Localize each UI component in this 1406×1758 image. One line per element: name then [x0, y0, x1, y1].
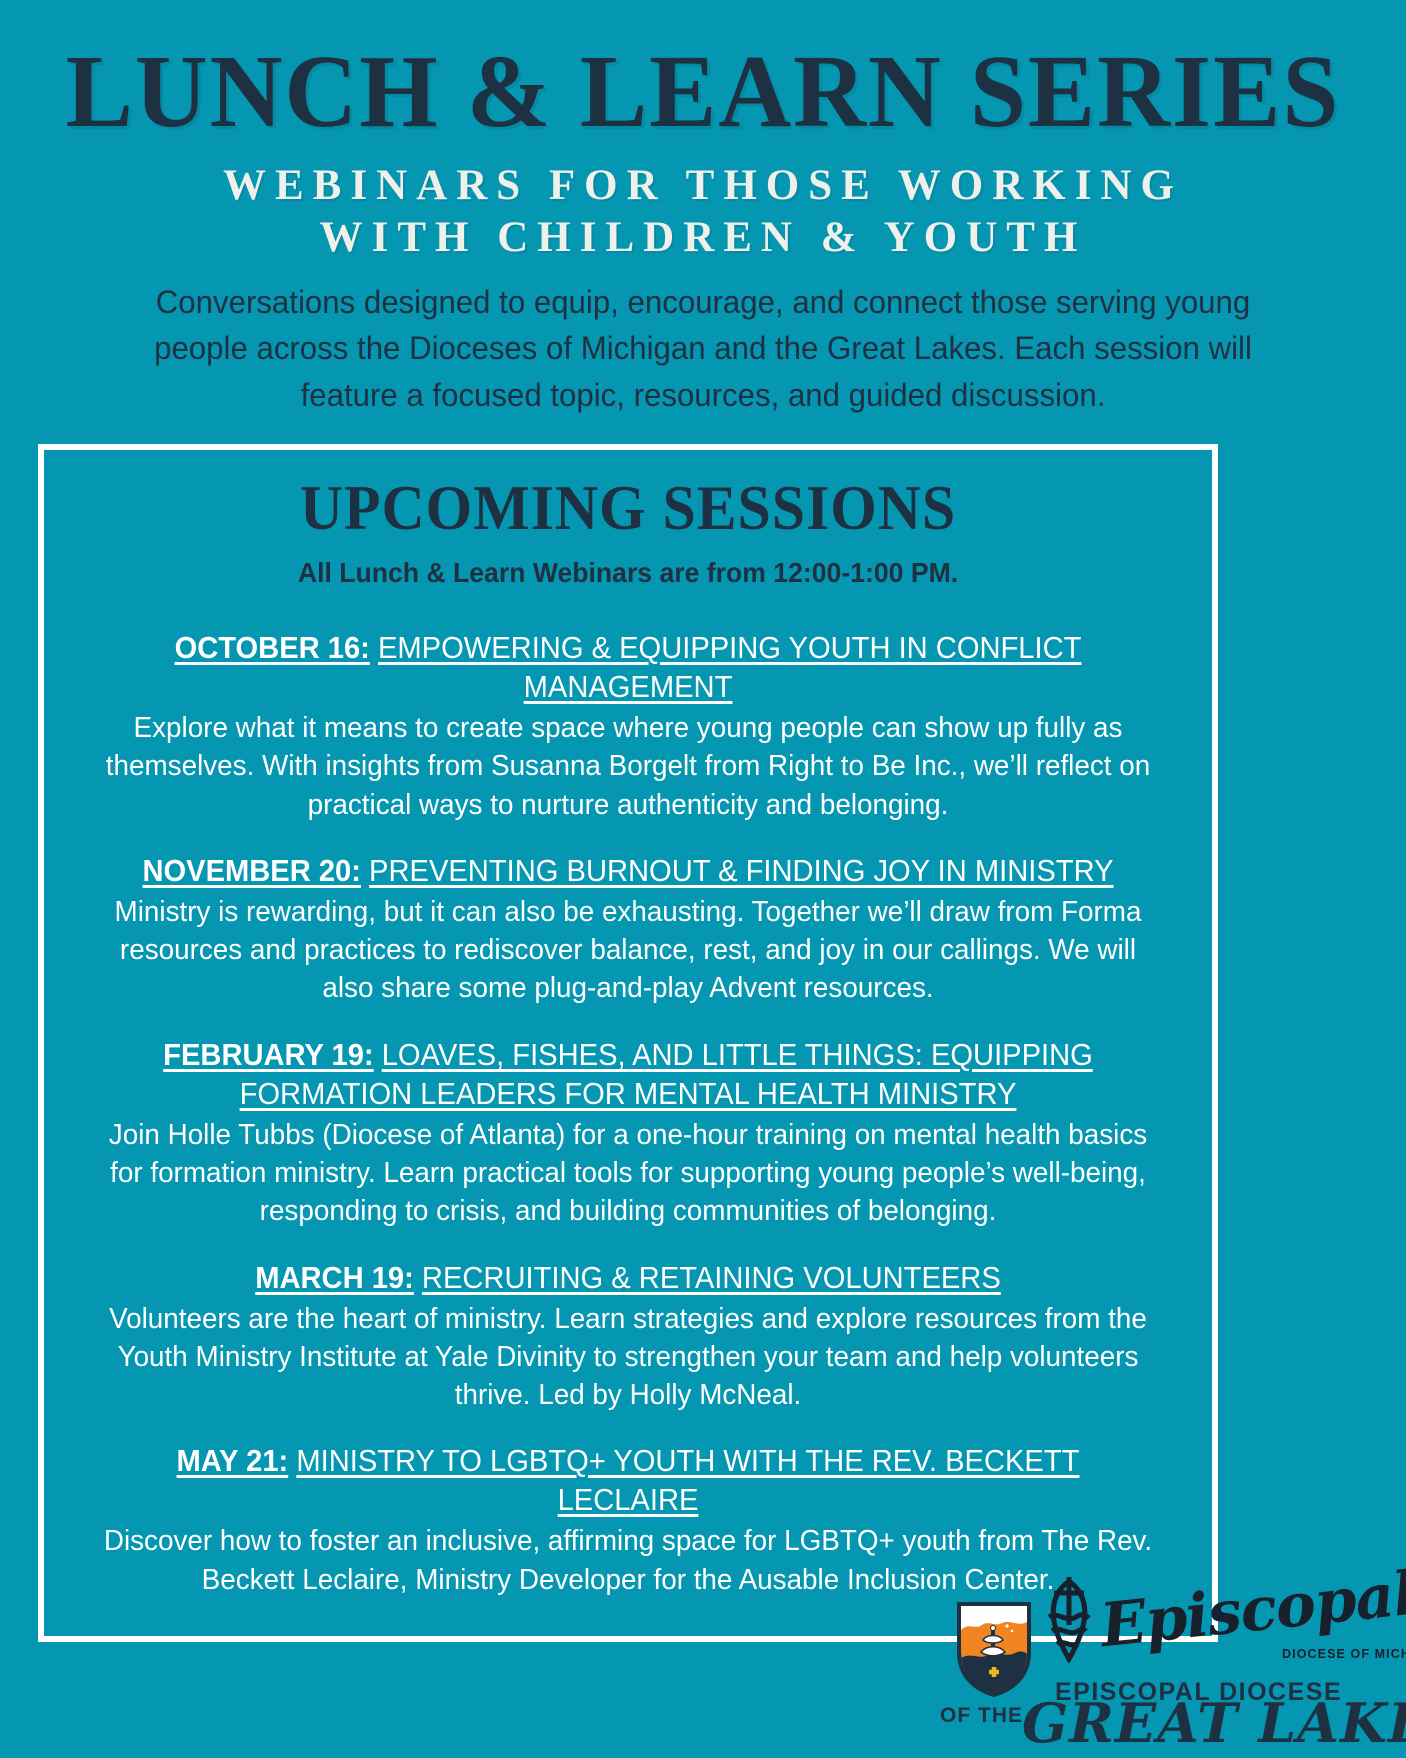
page-subtitle-line-2: WITH CHILDREN & YOUTH [0, 212, 1406, 264]
cross-boat-waves-icon [1038, 1575, 1100, 1663]
page-subtitle: WEBINARS FOR THOSE WORKING WITH CHILDREN… [0, 160, 1406, 265]
session-heading: FEBRUARY 19: LOAVES, FISHES, AND LITTLE … [99, 1036, 1157, 1114]
session-description: Volunteers are the heart of ministry. Le… [101, 1300, 1155, 1415]
session-topic: MINISTRY TO LGBTQ+ YOUTH WITH THE REV. B… [296, 1444, 1079, 1517]
intro-paragraph: Conversations designed to equip, encoura… [151, 279, 1255, 419]
session-heading: NOVEMBER 20: PREVENTING BURNOUT & FINDIN… [99, 852, 1157, 891]
great-lakes-wordmark: GREAT LAKES [1022, 1691, 1406, 1755]
session-date: NOVEMBER 20: [142, 854, 361, 888]
session-topic: EMPOWERING & EQUIPPING YOUTH IN CONFLICT… [378, 631, 1081, 704]
page-subtitle-line-1: WEBINARS FOR THOSE WORKING [0, 160, 1406, 212]
session-date: MARCH 19: [255, 1261, 414, 1295]
list-item: NOVEMBER 20: PREVENTING BURNOUT & FINDIN… [74, 852, 1182, 1008]
of-the-label: OF THE [940, 1704, 1023, 1728]
page-title: LUNCH & LEARN SERIES [21, 44, 1385, 140]
sessions-heading: UPCOMING SESSIONS [102, 472, 1155, 545]
episcopal-script-wordmark: Episcopal [1097, 1559, 1406, 1662]
logo-group: OF THE EPISCOPAL DIOCESE GREAT LAKES Epi… [940, 1573, 1360, 1749]
session-topic: PREVENTING BURNOUT & FINDING JOY IN MINI… [369, 854, 1113, 888]
list-item: FEBRUARY 19: LOAVES, FISHES, AND LITTLE … [74, 1036, 1182, 1231]
list-item: MARCH 19: RECRUITING & RETAINING VOLUNTE… [74, 1259, 1182, 1415]
upcoming-sessions-panel: UPCOMING SESSIONS All Lunch & Learn Webi… [38, 444, 1218, 1642]
session-heading: MAY 21: MINISTRY TO LGBTQ+ YOUTH WITH TH… [99, 1442, 1157, 1520]
diocese-of-michigan-label: DIOCESE OF MICHIGAN [1282, 1647, 1406, 1661]
flyer-header: LUNCH & LEARN SERIES WEBINARS FOR THOSE … [0, 0, 1406, 419]
session-heading: OCTOBER 16: EMPOWERING & EQUIPPING YOUTH… [99, 629, 1157, 707]
session-description: Ministry is rewarding, but it can also b… [101, 893, 1155, 1008]
session-heading: MARCH 19: RECRUITING & RETAINING VOLUNTE… [99, 1259, 1157, 1298]
session-date: MAY 21: [177, 1444, 289, 1478]
sailing-ship-shield-crest-icon [955, 1600, 1033, 1698]
session-description: Explore what it means to create space wh… [101, 709, 1155, 824]
session-description: Join Holle Tubbs (Diocese of Atlanta) fo… [101, 1116, 1155, 1231]
sessions-time-note: All Lunch & Learn Webinars are from 12:0… [102, 557, 1155, 589]
session-date: OCTOBER 16: [175, 631, 370, 665]
session-topic: RECRUITING & RETAINING VOLUNTEERS [422, 1261, 1001, 1295]
diocese-of-michigan-logo: Episcopal DIOCESE OF MICHIGAN [1038, 1573, 1354, 1673]
session-list: OCTOBER 16: EMPOWERING & EQUIPPING YOUTH… [74, 629, 1182, 1599]
session-date: FEBRUARY 19: [163, 1038, 373, 1072]
list-item: OCTOBER 16: EMPOWERING & EQUIPPING YOUTH… [74, 629, 1182, 824]
